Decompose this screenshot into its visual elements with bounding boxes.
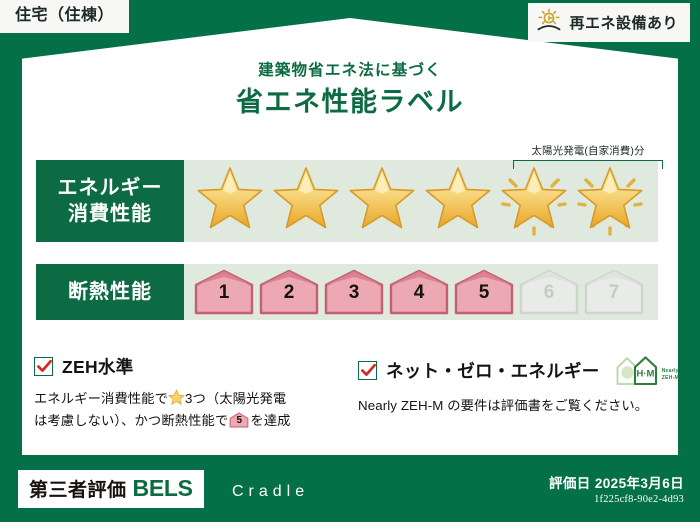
category-tab-label: 住宅（住棟） [15, 7, 114, 24]
insulation-level-7: 7 [584, 269, 644, 315]
solar-annotation-bracket [513, 160, 663, 169]
insulation-level-5: 5 [454, 269, 514, 315]
svg-text:H·M: H·M [636, 368, 654, 379]
zeh-body-part2: は考慮しない）、かつ断熱性能で [34, 413, 228, 428]
insulation-level-2: 2 [259, 269, 319, 315]
evaluation-id: 1f225cf8-90e2-4d93 [549, 494, 684, 507]
zeh-standard-body: エネルギー消費性能で3つ（太陽光発電は考慮しない）、かつ断熱性能で5を達成 [34, 388, 350, 431]
renewable-energy-badge: 再エネ設備あり [528, 3, 690, 42]
solar-annotation-label: 太陽光発電(自家消費)分 [508, 146, 668, 158]
insulation-level-value: 6 [519, 283, 579, 302]
net-zero-energy-body: Nearly ZEH-M の要件は評価書をご覧ください。 [358, 395, 674, 417]
energy-label-line1: エネルギー [58, 175, 163, 201]
inline-star-icon [168, 389, 185, 406]
net-zero-energy-title: ネット・ゼロ・エネルギー [386, 358, 600, 383]
star-4 [420, 163, 496, 239]
title-block: 建築物省エネ法に基づく 省エネ性能ラベル [0, 62, 700, 118]
insulation-performance-row: 断熱性能 1234567 [36, 264, 658, 320]
insulation-level-value: 5 [454, 283, 514, 302]
insulation-label-text: 断熱性能 [68, 279, 152, 305]
insulation-performance-track: 1234567 [184, 264, 658, 320]
insulation-level-value: 2 [259, 283, 319, 302]
insulation-level-6: 6 [519, 269, 579, 315]
insulation-level-3: 3 [324, 269, 384, 315]
zeh-body-part3: を達成 [250, 413, 290, 428]
zehm-logo-subtext: NearlyZEH-M [662, 368, 679, 386]
star-2 [268, 163, 344, 239]
star-rating [184, 160, 658, 242]
sun-icon [536, 8, 562, 37]
bels-wordmark: BELS [133, 475, 193, 502]
star-3 [344, 163, 420, 239]
nearly-zehm-logo: H·M NearlyZEH-M [614, 354, 679, 386]
renewable-badge-label: 再エネ設備あり [569, 12, 678, 33]
insulation-level-value: 1 [194, 283, 254, 302]
insulation-level-1: 1 [194, 269, 254, 315]
zeh-body-star-count: 3つ（太陽光発電 [185, 391, 286, 406]
bels-badge: 第三者評価 BELS [18, 470, 204, 508]
zeh-standard-section: ZEH水準 エネルギー消費性能で3つ（太陽光発電は考慮しない）、かつ断熱性能で5… [34, 354, 350, 431]
zeh-body-part1: エネルギー消費性能で [34, 391, 168, 406]
zehm-sub-line1: Nearly [662, 368, 679, 374]
third-party-eval-label: 第三者評価 [29, 475, 127, 502]
energy-performance-label-card: 住宅（住棟） 再エネ設備あり 建築 [0, 0, 700, 522]
zeh-standard-title: ZEH水準 [62, 354, 134, 379]
energy-performance-row: エネルギー 消費性能 [36, 160, 658, 242]
footer-meta: 評価日 2025年3月6日 1f225cf8-90e2-4d93 [549, 476, 684, 507]
star-6 [572, 163, 648, 239]
solar-annotation: 太陽光発電(自家消費)分 [508, 146, 668, 169]
zehm-sub-line2: ZEH-M [662, 375, 679, 381]
zehm-house-icon: H·M [614, 354, 660, 386]
insulation-level-scale: 1234567 [184, 264, 658, 320]
label-subtitle: 建築物省エネ法に基づく [0, 62, 700, 81]
brand-name: Cradle [232, 483, 309, 501]
zeh-standard-checkbox[interactable] [34, 357, 53, 376]
energy-performance-label: エネルギー 消費性能 [36, 160, 184, 242]
net-zero-energy-heading: ネット・ゼロ・エネルギー H·M NearlyZEH-M [358, 354, 674, 386]
evaluation-date: 評価日 2025年3月6日 [549, 476, 684, 492]
page-title: 省エネ性能ラベル [0, 86, 700, 118]
insulation-level-4: 4 [389, 269, 449, 315]
insulation-level-value: 7 [584, 283, 644, 302]
category-tab: 住宅（住棟） [0, 0, 129, 33]
insulation-performance-label: 断熱性能 [36, 264, 184, 320]
net-zero-energy-checkbox[interactable] [358, 361, 377, 380]
insulation-level-value: 4 [389, 283, 449, 302]
insulation-level-value: 3 [324, 283, 384, 302]
star-1 [192, 163, 268, 239]
inline-house-value: 5 [229, 416, 249, 426]
inline-house-icon: 5 [229, 412, 249, 428]
zeh-standard-heading: ZEH水準 [34, 354, 350, 379]
star-5 [496, 163, 572, 239]
net-zero-energy-section: ネット・ゼロ・エネルギー H·M NearlyZEH-M Nearly ZEH-… [358, 354, 674, 417]
energy-label-line2: 消費性能 [68, 201, 152, 227]
energy-performance-track [184, 160, 658, 242]
